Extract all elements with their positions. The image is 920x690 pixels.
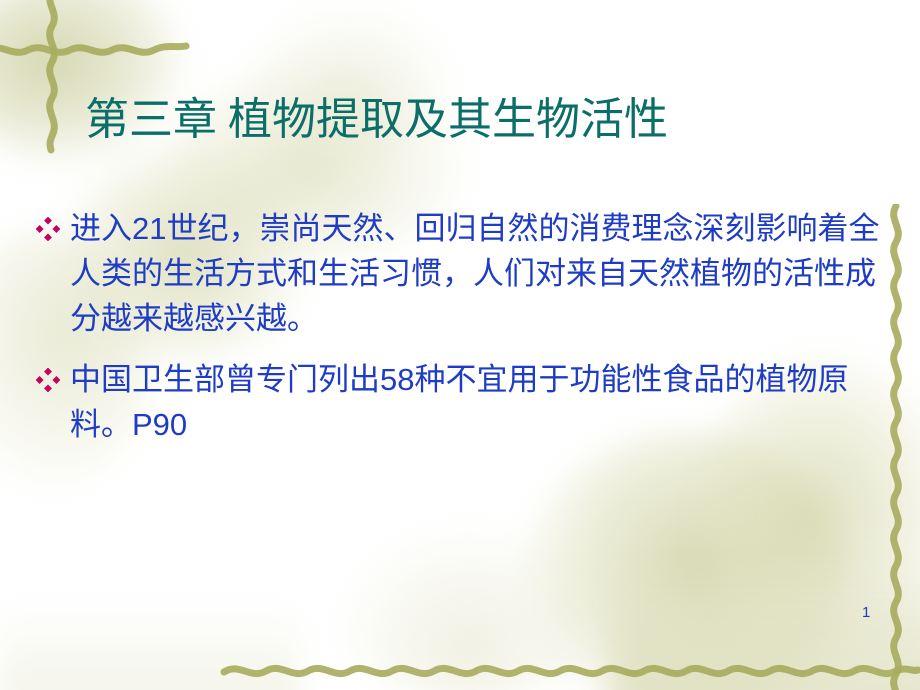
diamond-cluster-bullet-icon <box>36 217 60 241</box>
bullet-text: 中国卫生部曾专门列出58种不宜用于功能性食品的植物原料。P90 <box>70 357 894 447</box>
diamond-cluster-bullet-icon <box>36 368 60 392</box>
leaf-watermark <box>610 560 920 690</box>
vine-horizontal-top-left-icon <box>0 26 200 72</box>
leaf-watermark <box>0 600 300 690</box>
bullet-item: 中国卫生部曾专门列出58种不宜用于功能性食品的植物原料。P90 <box>34 357 894 447</box>
bullet-item: 进入21世纪，崇尚天然、回归自然的消费理念深刻影响着全人类的生活方式和生活习惯，… <box>34 206 894 341</box>
leaf-watermark <box>330 520 610 690</box>
page-number: 1 <box>862 604 870 621</box>
vine-vertical-top-left-icon <box>26 0 78 154</box>
slide-body: 进入21世纪，崇尚天然、回归自然的消费理念深刻影响着全人类的生活方式和生活习惯，… <box>34 206 894 463</box>
slide-canvas: 第三章 植物提取及其生物活性 进入21世纪，崇尚天然、回归自然的消费理念深刻影响… <box>0 0 920 690</box>
slide-title: 第三章 植物提取及其生物活性 <box>85 92 668 147</box>
vine-horizontal-bottom-icon <box>220 650 920 690</box>
bullet-text: 进入21世纪，崇尚天然、回归自然的消费理念深刻影响着全人类的生活方式和生活习惯，… <box>70 206 894 341</box>
leaf-watermark <box>520 430 850 690</box>
